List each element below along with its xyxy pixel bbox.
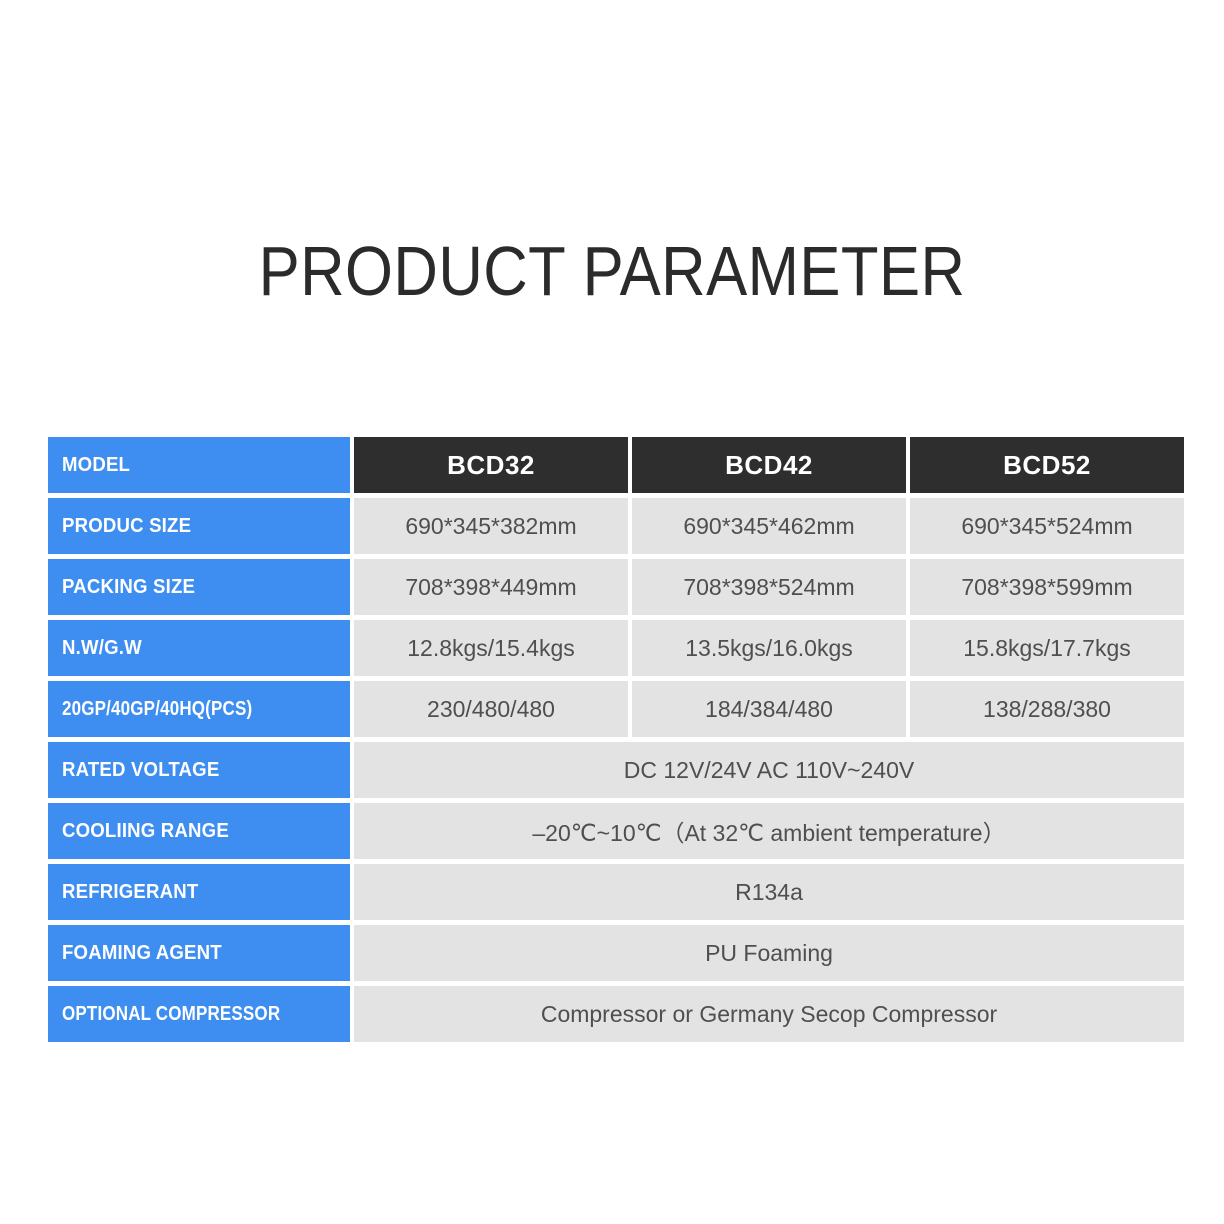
- spec-value-text: PU Foaming: [705, 940, 833, 967]
- spec-value-text: 15.8kgs/17.7kgs: [963, 635, 1131, 662]
- product-parameter-page: PRODUCT PARAMETER MODELBCD32BCD42BCD52PR…: [0, 0, 1224, 1224]
- page-title: PRODUCT PARAMETER: [73, 228, 1150, 314]
- spec-value-cell: 15.8kgs/17.7kgs: [910, 620, 1184, 676]
- spec-value-text: 708*398*599mm: [961, 574, 1132, 601]
- row-label-text: PRODUC SIZE: [62, 515, 191, 538]
- row-label-text: PACKING SIZE: [62, 576, 195, 599]
- spec-value-text: 184/384/480: [705, 696, 833, 723]
- row-label-cell: PACKING SIZE: [48, 559, 350, 615]
- spec-value-text: 230/480/480: [427, 696, 555, 723]
- table-row: COOLIING RANGE–20℃~10℃（At 32℃ ambient te…: [48, 803, 1184, 859]
- spec-value-text: Compressor or Germany Secop Compressor: [541, 1001, 997, 1028]
- row-label-cell: COOLIING RANGE: [48, 803, 350, 859]
- spec-value-cell: DC 12V/24V AC 110V~240V: [354, 742, 1184, 798]
- spec-value-cell: PU Foaming: [354, 925, 1184, 981]
- spec-value-cell: 690*345*462mm: [632, 498, 906, 554]
- model-header-text: BCD32: [447, 450, 535, 481]
- row-label-text: REFRIGERANT: [62, 881, 198, 904]
- spec-value-text: 708*398*449mm: [405, 574, 576, 601]
- spec-value-text: 12.8kgs/15.4kgs: [407, 635, 575, 662]
- row-label-cell: 20GP/40GP/40HQ(PCS): [48, 681, 350, 737]
- model-header-text: BCD42: [725, 450, 813, 481]
- row-label-cell: REFRIGERANT: [48, 864, 350, 920]
- table-row: FOAMING AGENTPU Foaming: [48, 925, 1184, 981]
- spec-value-text: 690*345*524mm: [961, 513, 1132, 540]
- spec-value-text: –20℃~10℃（At 32℃ ambient temperature）: [532, 814, 1005, 848]
- row-label-cell: PRODUC SIZE: [48, 498, 350, 554]
- row-label-cell: RATED VOLTAGE: [48, 742, 350, 798]
- spec-value-cell: R134a: [354, 864, 1184, 920]
- row-label-cell: N.W/G.W: [48, 620, 350, 676]
- row-label-text: FOAMING AGENT: [62, 942, 222, 965]
- row-label-cell: FOAMING AGENT: [48, 925, 350, 981]
- spec-value-cell: –20℃~10℃（At 32℃ ambient temperature）: [354, 803, 1184, 859]
- spec-value-text: 690*345*382mm: [405, 513, 576, 540]
- spec-value-cell: 230/480/480: [354, 681, 628, 737]
- row-label-text: OPTIONAL COMPRESSOR: [62, 1003, 280, 1026]
- spec-value-cell: 690*345*524mm: [910, 498, 1184, 554]
- model-header-cell: BCD32: [354, 437, 628, 493]
- table-row: PACKING SIZE708*398*449mm708*398*524mm70…: [48, 559, 1184, 615]
- spec-value-text: 13.5kgs/16.0kgs: [685, 635, 853, 662]
- spec-value-cell: 708*398*524mm: [632, 559, 906, 615]
- model-header-text: BCD52: [1003, 450, 1091, 481]
- spec-value-text: DC 12V/24V AC 110V~240V: [624, 757, 914, 784]
- spec-value-cell: 12.8kgs/15.4kgs: [354, 620, 628, 676]
- row-label-cell: MODEL: [48, 437, 350, 493]
- table-row: MODELBCD32BCD42BCD52: [48, 437, 1184, 493]
- model-header-cell: BCD52: [910, 437, 1184, 493]
- model-header-cell: BCD42: [632, 437, 906, 493]
- row-label-text: 20GP/40GP/40HQ(PCS): [62, 698, 252, 721]
- spec-value-cell: 708*398*599mm: [910, 559, 1184, 615]
- spec-value-cell: 184/384/480: [632, 681, 906, 737]
- specification-table: MODELBCD32BCD42BCD52PRODUC SIZE690*345*3…: [48, 437, 1184, 1042]
- spec-value-text: R134a: [735, 879, 803, 906]
- spec-value-cell: Compressor or Germany Secop Compressor: [354, 986, 1184, 1042]
- row-label-text: RATED VOLTAGE: [62, 759, 219, 782]
- row-label-text: N.W/G.W: [62, 637, 142, 660]
- table-row: PRODUC SIZE690*345*382mm690*345*462mm690…: [48, 498, 1184, 554]
- spec-value-cell: 690*345*382mm: [354, 498, 628, 554]
- spec-value-cell: 708*398*449mm: [354, 559, 628, 615]
- row-label-text: MODEL: [62, 454, 130, 477]
- table-row: RATED VOLTAGEDC 12V/24V AC 110V~240V: [48, 742, 1184, 798]
- table-row: 20GP/40GP/40HQ(PCS)230/480/480184/384/48…: [48, 681, 1184, 737]
- spec-value-cell: 138/288/380: [910, 681, 1184, 737]
- spec-value-cell: 13.5kgs/16.0kgs: [632, 620, 906, 676]
- spec-value-text: 138/288/380: [983, 696, 1111, 723]
- row-label-cell: OPTIONAL COMPRESSOR: [48, 986, 350, 1042]
- spec-value-text: 708*398*524mm: [683, 574, 854, 601]
- table-row: REFRIGERANTR134a: [48, 864, 1184, 920]
- table-row: OPTIONAL COMPRESSORCompressor or Germany…: [48, 986, 1184, 1042]
- table-row: N.W/G.W12.8kgs/15.4kgs13.5kgs/16.0kgs15.…: [48, 620, 1184, 676]
- row-label-text: COOLIING RANGE: [62, 820, 229, 843]
- spec-value-text: 690*345*462mm: [683, 513, 854, 540]
